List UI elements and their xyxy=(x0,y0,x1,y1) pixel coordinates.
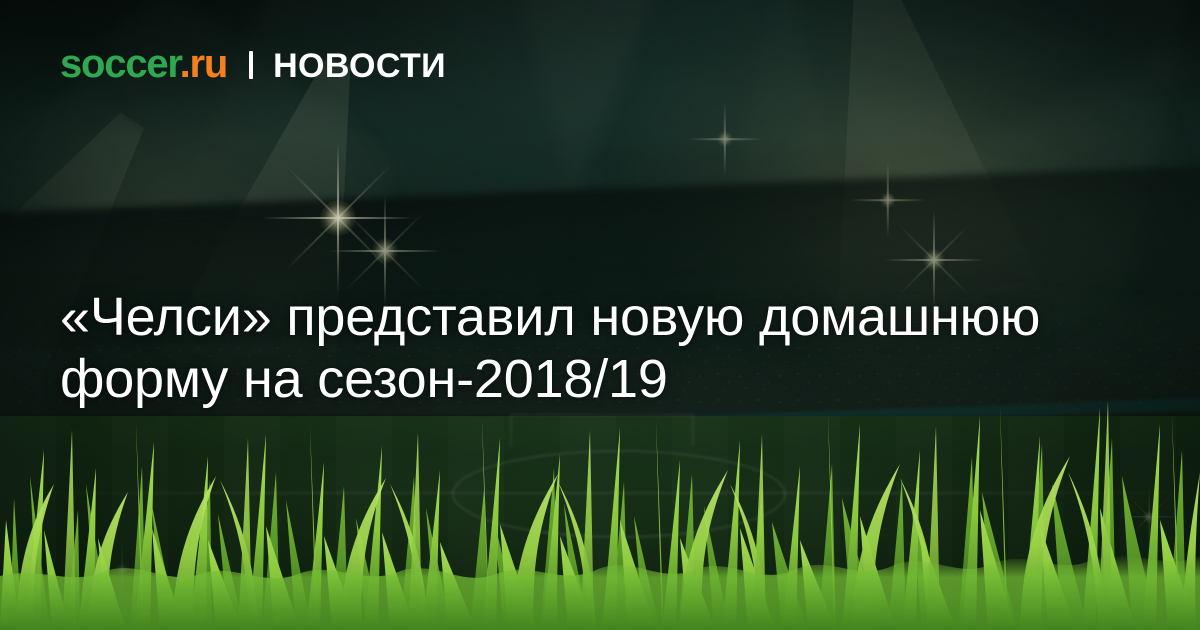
site-header: soccer.ru НОВОСТИ xyxy=(60,44,446,84)
header-separator xyxy=(249,51,253,79)
headline-title: «Челси» представил новую домашнюю форму … xyxy=(60,286,1130,410)
logo-word-ru: .ru xyxy=(180,42,228,86)
section-label: НОВОСТИ xyxy=(273,49,446,83)
foreground-grass xyxy=(0,380,1200,630)
site-logo[interactable]: soccer.ru xyxy=(60,44,227,84)
social-share-card: soccer.ru НОВОСТИ «Челси» представил нов… xyxy=(0,0,1200,630)
logo-word-soccer: soccer xyxy=(60,42,180,86)
